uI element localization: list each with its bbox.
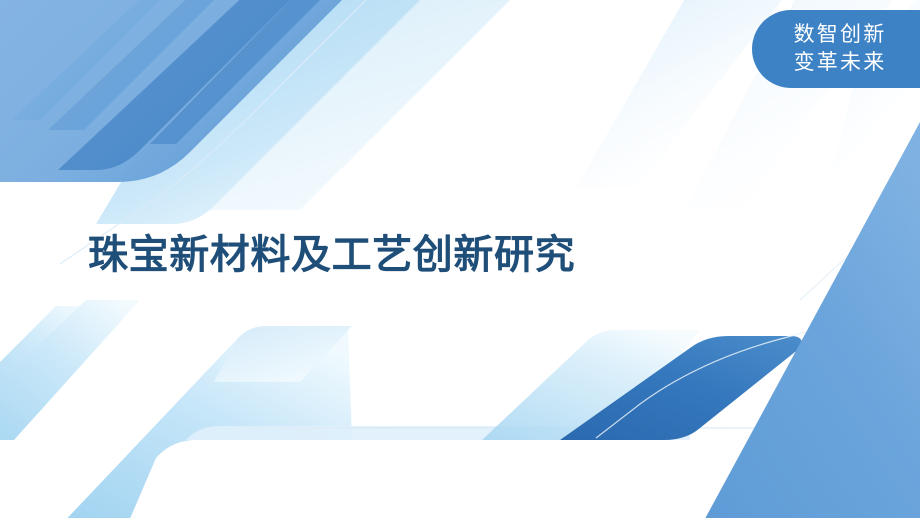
tagline-line-2: 变革未来 xyxy=(794,49,887,77)
page-title: 珠宝新材料及工艺创新研究 xyxy=(88,232,575,278)
bottom-left-band-inner xyxy=(0,300,140,440)
tagline-line-1: 数智创新 xyxy=(794,21,887,49)
tagline-badge: 数智创新 变革未来 xyxy=(752,10,920,88)
slide-canvas: 数智创新 变革未来 珠宝新材料及工艺创新研究 xyxy=(0,0,920,518)
